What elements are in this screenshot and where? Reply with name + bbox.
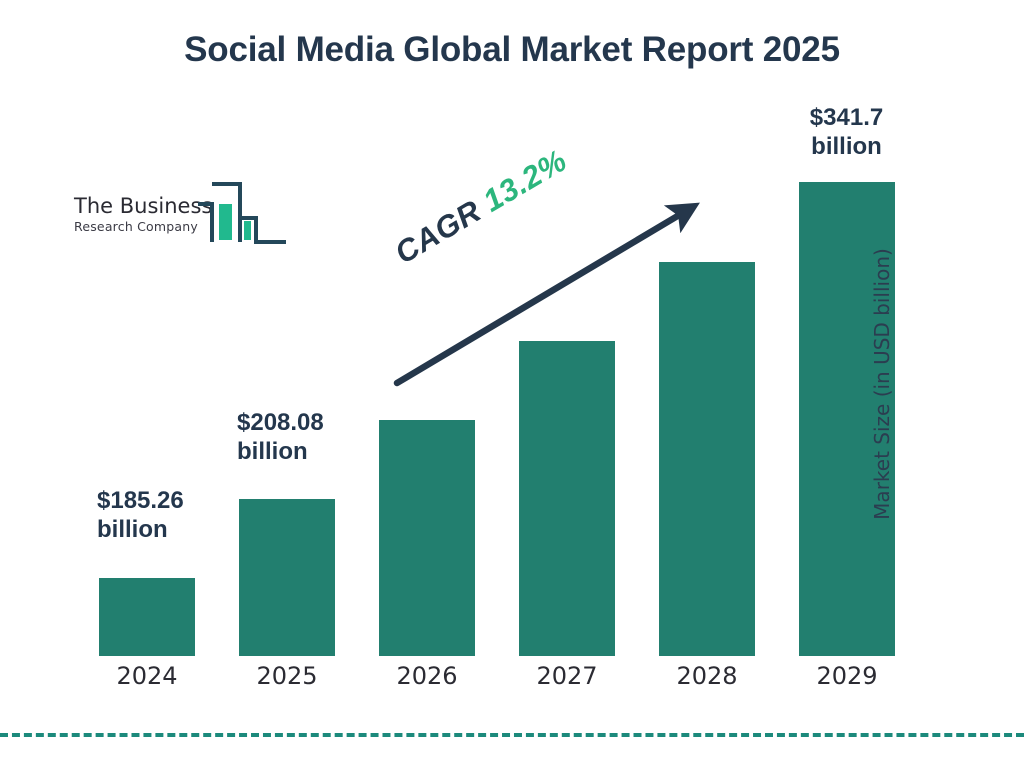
value-label-2029-line1: $341.7 xyxy=(774,103,919,132)
bar-2026 xyxy=(379,420,475,656)
y-axis-title: Market Size (in USD billion) xyxy=(870,248,894,520)
x-tick-2024: 2024 xyxy=(99,662,195,690)
x-tick-2027: 2027 xyxy=(519,662,615,690)
value-label-2025: $208.08 billion xyxy=(215,408,382,467)
value-label-2029: $341.7 billion xyxy=(774,103,919,162)
value-label-2024: $185.26 billion xyxy=(75,486,242,545)
value-label-2025-line1: $208.08 xyxy=(237,408,382,437)
x-tick-2025: 2025 xyxy=(239,662,335,690)
value-label-2024-line1: $185.26 xyxy=(97,486,242,515)
value-label-2024-line2: billion xyxy=(97,515,242,544)
value-label-2025-line2: billion xyxy=(237,437,382,466)
value-label-2029-line2: billion xyxy=(774,132,919,161)
x-tick-2028: 2028 xyxy=(659,662,755,690)
bottom-divider xyxy=(0,733,1024,737)
x-tick-2029: 2029 xyxy=(799,662,895,690)
bar-2024 xyxy=(99,578,195,656)
bar-2025 xyxy=(239,499,335,656)
x-tick-2026: 2026 xyxy=(379,662,475,690)
chart-canvas: Social Media Global Market Report 2025 T… xyxy=(0,0,1024,768)
